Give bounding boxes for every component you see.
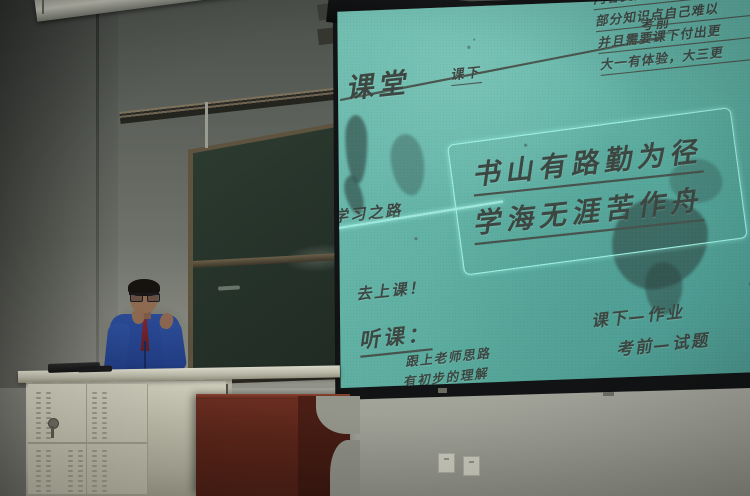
- classroom-photo: 课堂 课下 考前 内容变少，难度加 部分知识点自己难以 并且需要课下付出更 大一…: [0, 0, 750, 496]
- projection-screen: 课堂 课下 考前 内容变少，难度加 部分知识点自己难以 并且需要课下付出更 大一…: [334, 0, 750, 392]
- slide-go-to-class: 去上课！: [355, 276, 427, 305]
- projected-slide: 课堂 课下 考前 内容变少，难度加 部分知识点自己难以 并且需要课下付出更 大一…: [334, 0, 750, 392]
- glasses-lens-right: [147, 293, 160, 302]
- slide-speck: [414, 237, 418, 241]
- cabinet-divider: [28, 442, 147, 444]
- cabinet-key[interactable]: [51, 426, 54, 438]
- wall-socket-right[interactable]: [463, 456, 480, 476]
- glasses-lens-left: [130, 293, 143, 302]
- slide-right-paragraph: 内容变少，难度加 部分知识点自己难以 并且需要课下付出更 大一有体验，大三更: [592, 0, 750, 78]
- wall-socket-left[interactable]: [438, 453, 455, 473]
- slide-speck: [473, 38, 475, 40]
- slide-title-sub-1: 课下: [449, 62, 482, 86]
- slide-right-item: 课下—作业: [590, 300, 685, 333]
- screen-pull-rod: [205, 102, 208, 148]
- wall-mount-clip-left: [438, 388, 447, 393]
- light-mount-rod: [42, 0, 44, 14]
- wall-mount-clip-right: [603, 392, 614, 396]
- ink-blot-decoration: [388, 133, 427, 198]
- slide-title: 课堂: [343, 61, 411, 107]
- ink-blot-decoration: [345, 115, 367, 183]
- remote-control-body[interactable]: [78, 366, 112, 373]
- slide-speck: [467, 45, 471, 49]
- slide-right-item: 考前—试题: [615, 328, 710, 361]
